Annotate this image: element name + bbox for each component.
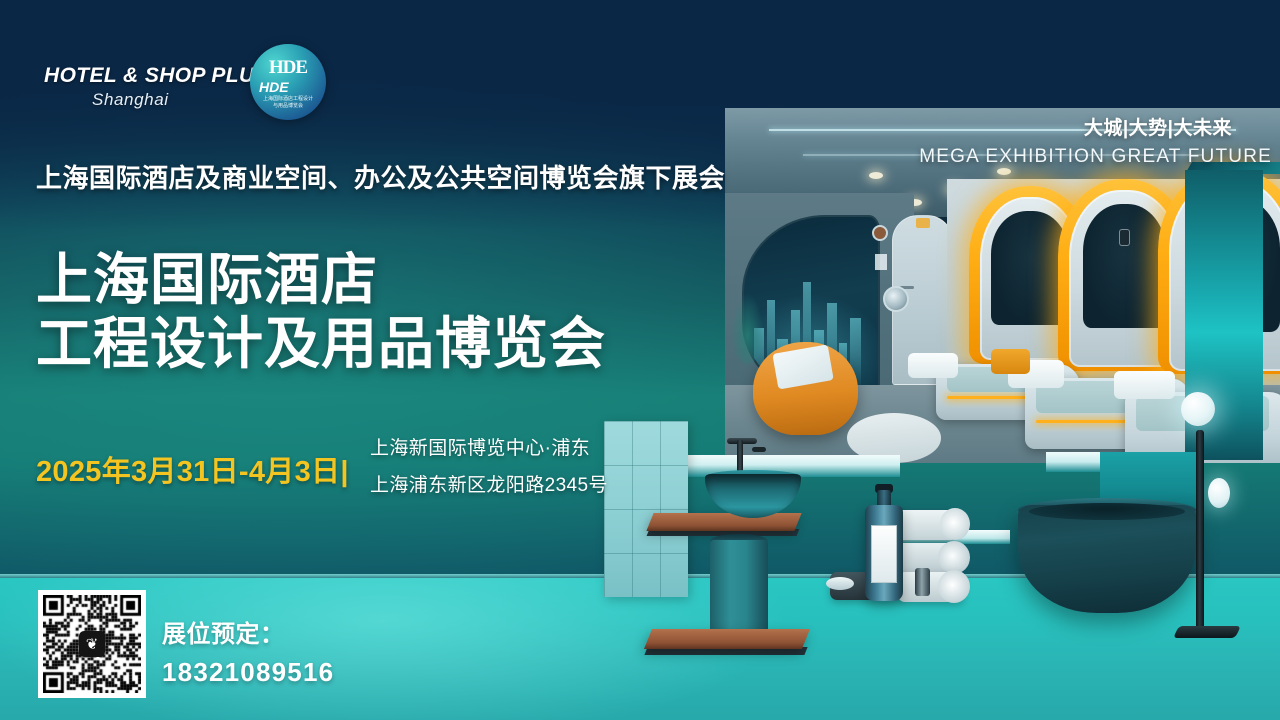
venue-line-1: 上海新国际博览中心·浦东 <box>370 430 608 467</box>
plant <box>731 293 764 364</box>
wechat-qr-code[interactable]: ❦ <box>38 590 146 698</box>
shanghai-label: Shanghai <box>92 90 169 110</box>
event-date: 2025年3月31日-4月3日| <box>36 448 349 490</box>
event-venue: 上海新国际博览中心·浦东 上海浦东新区龙阳路2345号 <box>370 430 608 504</box>
sink-pedestal <box>710 540 768 636</box>
pillow <box>1114 371 1175 399</box>
freestanding-bathtub <box>1018 505 1196 613</box>
hde-wordmark: HDE <box>259 79 289 95</box>
hde-cn-line1: 上海国际酒店工程设计 <box>263 96 313 103</box>
title-line-2: 工程设计及用品博览会 <box>36 312 606 376</box>
tile-panel <box>604 421 688 597</box>
pillow <box>908 353 958 378</box>
accent-pillow <box>991 349 1030 374</box>
promotional-banner: HOTEL & SHOP PLUS Shanghai HDE HDE 上海国际酒… <box>0 0 1280 720</box>
towel-roll-end <box>940 508 970 540</box>
wall-frame <box>875 254 887 270</box>
hde-logo-badge: HDE HDE 上海国际酒店工程设计 与用品博览会 <box>250 44 326 120</box>
faucet-lever <box>752 447 766 452</box>
wechat-icon: ❦ <box>79 631 105 657</box>
event-subtitle: 上海国际酒店及商业空间、办公及公共空间博览会旗下展会 <box>36 158 725 195</box>
wood-shelf-top <box>646 513 801 531</box>
hde-chinese-caption: 上海国际酒店工程设计 与用品博览会 <box>263 96 313 109</box>
tagline-chinese: 大城|大势|大未来 <box>1084 113 1232 140</box>
wechat-glyph: ❦ <box>86 637 99 652</box>
venue-line-2: 上海浦东新区龙阳路2345号 <box>370 467 608 504</box>
porthole-light <box>883 286 909 312</box>
downlight <box>869 172 883 179</box>
floor-lamp-pole <box>1196 430 1204 630</box>
page-title: 上海国际酒店 工程设计及用品博览会 <box>36 248 606 376</box>
wood-shelf-bottom <box>644 629 810 649</box>
title-line-1: 上海国际酒店 <box>36 248 606 312</box>
hde-monogram: HDE <box>269 57 307 79</box>
floor-lamp-base <box>1173 626 1241 638</box>
hotel-shop-plus-wordmark: HOTEL & SHOP PLUS <box>44 64 269 88</box>
sphere-lamp <box>1208 478 1230 508</box>
tagline-english: MEGA EXHIBITION GREAT FUTURE <box>919 146 1272 168</box>
bottle-label <box>871 525 897 583</box>
pod-interior <box>1083 204 1166 328</box>
bathtub-interior <box>1029 503 1185 520</box>
pod-control-panel <box>1119 229 1130 246</box>
amenity-jar <box>915 568 930 596</box>
sphere-lamp <box>1181 392 1215 426</box>
towel-roll-end <box>938 570 970 603</box>
tile-grid <box>604 421 688 597</box>
soap-dish <box>826 577 854 590</box>
wall-panel <box>916 218 930 228</box>
booking-phone[interactable]: 18321089516 <box>162 657 334 688</box>
hde-cn-line2: 与用品博览会 <box>263 103 313 110</box>
booking-label: 展位预定： <box>162 614 285 649</box>
